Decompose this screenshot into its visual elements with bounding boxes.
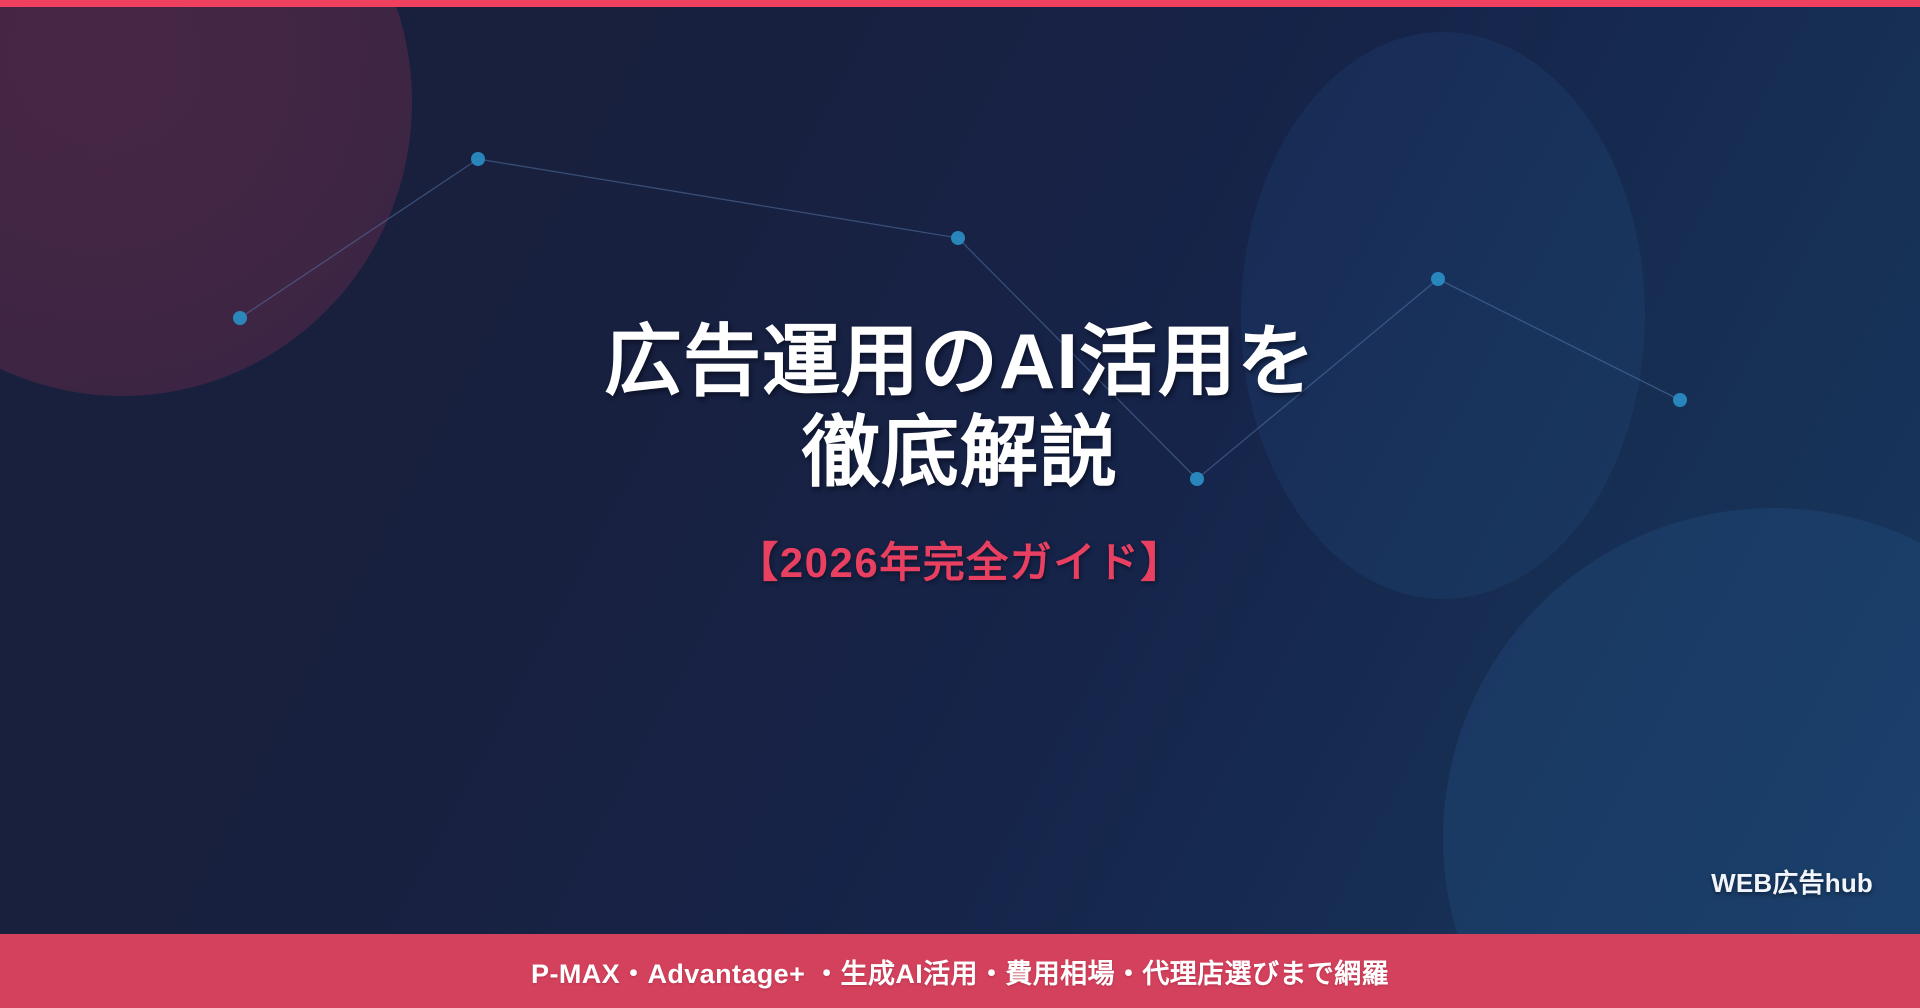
brand-logo-text: WEB広告hub [1711,863,1873,900]
network-node [1431,272,1445,286]
network-node [471,152,485,166]
title-slide: 広告運用のAI活用を 徹底解説 【2026年完全ガイド】 WEB広告hub P-… [0,0,1920,1008]
network-node [951,231,965,245]
hero-title-line-2: 徹底解説 [0,407,1920,498]
hero-text-block: 広告運用のAI活用を 徹底解説 【2026年完全ガイド】 [0,316,1920,590]
network-edge [478,159,958,238]
hero-subtitle: 【2026年完全ガイド】 [0,529,1920,590]
hero-title-line-1: 広告運用のAI活用を [0,316,1920,407]
bottom-keyword-banner: P-MAX・Advantage+ ・生成AI活用・費用相場・代理店選びまで網羅 [0,934,1920,1008]
network-edge [240,159,478,318]
top-accent-bar [0,0,1920,7]
bottom-banner-text: P-MAX・Advantage+ ・生成AI活用・費用相場・代理店選びまで網羅 [531,952,1389,991]
